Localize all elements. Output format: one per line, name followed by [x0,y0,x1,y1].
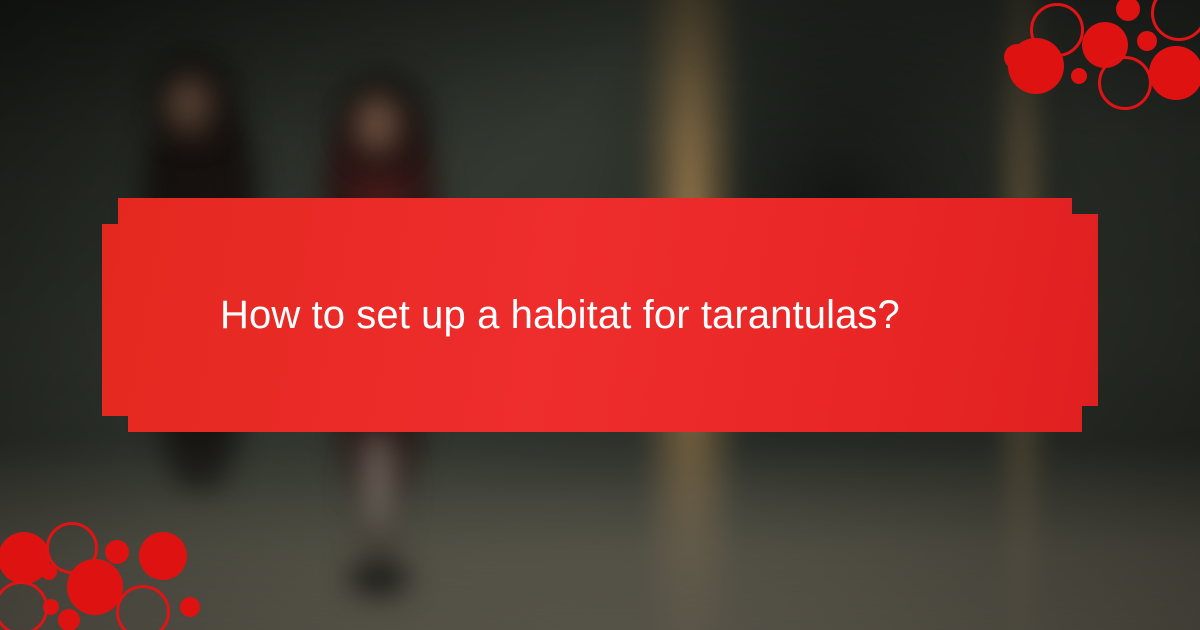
share-card: How to set up a habitat for tarantulas? [0,0,1200,630]
page-title: How to set up a habitat for tarantulas? [102,290,1018,340]
title-banner: How to set up a habitat for tarantulas? [102,198,1098,432]
